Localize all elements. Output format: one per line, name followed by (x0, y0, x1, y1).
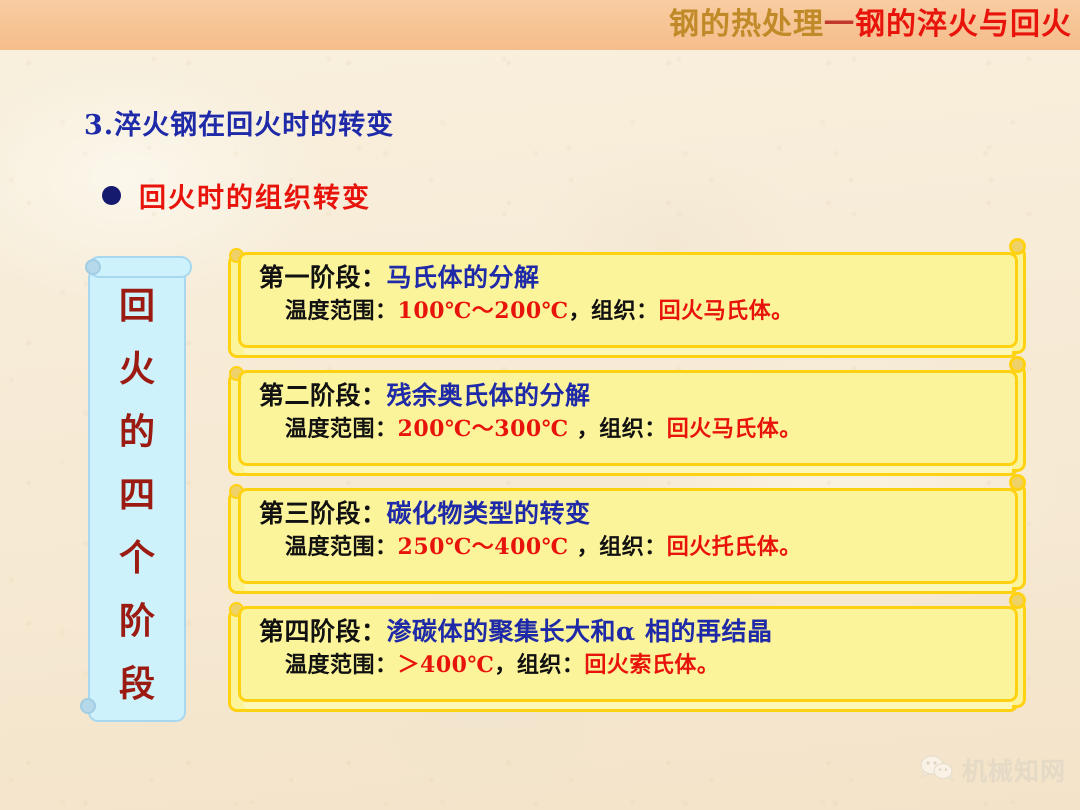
side-scroll-panel: 回 火 的 四 个 阶 段 (84, 252, 190, 726)
subsection-heading: 回火时的组织转变 (139, 176, 371, 215)
header-title-prefix: 钢的热处理 (669, 7, 824, 42)
structure-label: ，组织： (569, 534, 667, 560)
stage-box-panel: 第三阶段：碳化物类型的转变 温度范围：250℃～400℃ ，组织：回火托氏体。 (238, 488, 1018, 584)
stage-title-line: 第二阶段：残余奥氏体的分解 (259, 380, 1001, 411)
header-title-separator: 一 (824, 7, 855, 42)
scroll-curl-top-left-icon (85, 259, 101, 275)
side-scroll-text: 回 火 的 四 个 阶 段 (88, 282, 186, 712)
stage-detail-line: 温度范围：100℃～200℃，组织：回火马氏体。 (259, 297, 1001, 326)
stage-box-edge (238, 701, 1018, 712)
temp-range: 250℃～400℃ (398, 534, 569, 560)
scroll-curl-right-icon (1009, 238, 1026, 255)
stage-label: 第四阶段： (259, 617, 387, 646)
stage-name: 渗碳体的聚集长大和α 相的再结晶 (387, 617, 773, 646)
temp-range: 200℃～300℃ (398, 416, 569, 442)
side-scroll-char: 的 (119, 414, 155, 450)
subsection-heading-row: 回火时的组织转变 (102, 176, 371, 215)
header-band: 钢的热处理一钢的淬火与回火 (0, 0, 1080, 50)
structure-value: 回火马氏体。 (667, 416, 802, 442)
stage-detail-line: 温度范围：＞400℃，组织：回火索氏体。 (259, 651, 1001, 680)
stage-box-edge (238, 347, 1018, 358)
watermark-text: 机械知网 (962, 752, 1066, 788)
scroll-curl-right-icon (1009, 592, 1026, 609)
structure-value: 回火马氏体。 (659, 298, 794, 324)
stage-label: 第三阶段： (259, 499, 387, 528)
filled-circle-bullet-icon (102, 186, 121, 205)
structure-label: ，组织： (494, 652, 584, 678)
stage-box-panel: 第一阶段：马氏体的分解 温度范围：100℃～200℃，组织：回火马氏体。 (238, 252, 1018, 348)
temp-label: 温度范围： (285, 298, 398, 324)
stage-name: 马氏体的分解 (387, 263, 540, 292)
temp-label: 温度范围： (285, 652, 398, 678)
stage-name: 碳化物类型的转变 (387, 499, 591, 528)
scroll-curl-right-icon (1009, 474, 1026, 491)
side-scroll-char: 段 (119, 666, 155, 702)
stage-list: 第一阶段：马氏体的分解 温度范围：100℃～200℃，组织：回火马氏体。 第二阶… (228, 240, 1028, 712)
side-scroll-char: 回 (119, 288, 155, 324)
stage-box-edge (238, 465, 1018, 476)
stage-title-line: 第一阶段：马氏体的分解 (259, 262, 1001, 293)
temp-range: ＞400℃ (398, 652, 495, 678)
structure-label: ，组织： (569, 416, 667, 442)
side-scroll-char: 个 (119, 540, 155, 576)
stage-box: 第四阶段：渗碳体的聚集长大和α 相的再结晶 温度范围：＞400℃，组织：回火索氏… (228, 594, 1028, 708)
structure-value: 回火索氏体。 (584, 652, 719, 678)
stage-label: 第一阶段： (259, 263, 387, 292)
wechat-icon (920, 755, 954, 786)
side-scroll-top-roll (88, 256, 192, 278)
stage-box-panel: 第四阶段：渗碳体的聚集长大和α 相的再结晶 温度范围：＞400℃，组织：回火索氏… (238, 606, 1018, 702)
stage-box: 第三阶段：碳化物类型的转变 温度范围：250℃～400℃ ，组织：回火托氏体。 (228, 476, 1028, 590)
stage-box-panel: 第二阶段：残余奥氏体的分解 温度范围：200℃～300℃ ，组织：回火马氏体。 (238, 370, 1018, 466)
section-heading: 3.淬火钢在回火时的转变 (84, 103, 394, 142)
temp-range: 100℃～200℃ (398, 298, 569, 324)
stage-detail-line: 温度范围：200℃～300℃ ，组织：回火马氏体。 (259, 415, 1001, 444)
stage-detail-line: 温度范围：250℃～400℃ ，组织：回火托氏体。 (259, 533, 1001, 562)
side-scroll-char: 四 (119, 477, 155, 513)
stage-box: 第一阶段：马氏体的分解 温度范围：100℃～200℃，组织：回火马氏体。 (228, 240, 1028, 354)
stage-box-edge (238, 583, 1018, 594)
side-scroll-char: 阶 (119, 603, 155, 639)
scroll-curl-right-icon (1009, 356, 1026, 373)
temp-label: 温度范围： (285, 416, 398, 442)
stage-label: 第二阶段： (259, 381, 387, 410)
stage-name: 残余奥氏体的分解 (387, 381, 591, 410)
stage-title-line: 第四阶段：渗碳体的聚集长大和α 相的再结晶 (259, 616, 1001, 647)
slide-canvas: 钢的热处理一钢的淬火与回火 3.淬火钢在回火时的转变 回火时的组织转变 回 火 … (0, 0, 1080, 810)
side-scroll-char: 火 (119, 351, 155, 387)
temp-label: 温度范围： (285, 534, 398, 560)
header-title-suffix: 钢的淬火与回火 (855, 7, 1072, 42)
header-title: 钢的热处理一钢的淬火与回火 (669, 10, 1072, 40)
structure-label: ，组织： (569, 298, 659, 324)
stage-box: 第二阶段：残余奥氏体的分解 温度范围：200℃～300℃ ，组织：回火马氏体。 (228, 358, 1028, 472)
stage-title-line: 第三阶段：碳化物类型的转变 (259, 498, 1001, 529)
structure-value: 回火托氏体。 (667, 534, 802, 560)
watermark: 机械知网 (920, 752, 1066, 788)
